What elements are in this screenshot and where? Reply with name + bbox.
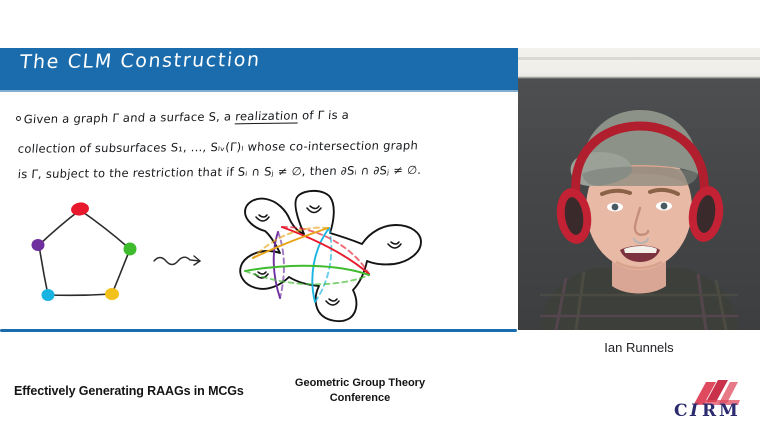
hollow-bullet-icon (16, 116, 21, 121)
svg-text:I: I (689, 401, 699, 420)
conference-title-line-2: Conference (250, 391, 470, 406)
graph-vertex-left (32, 239, 45, 251)
cirm-logo: C I R M (672, 378, 748, 420)
footer-bar: Effectively Generating RAAGs in MCGs Geo… (0, 370, 760, 427)
slide-body-line-1: Given a graph Γ and a surface S, a reali… (23, 108, 349, 127)
speaker-webcam-image (536, 90, 742, 330)
slide-panel: The CLM Construction Given a graph Γ and… (0, 0, 520, 336)
slide-body-emphasis-realization: realization (235, 108, 299, 123)
slide-body-line-3: is Γ, subject to the restriction that if… (17, 163, 422, 181)
talk-title: Effectively Generating RAAGs in MCGs (14, 384, 244, 398)
video-wall-edge (518, 57, 760, 60)
cirm-logo-text: C I R M (674, 401, 738, 420)
graph-vertex-bottom-right (105, 288, 119, 300)
pentagon-graph-figure (20, 193, 160, 315)
squiggly-arrow-icon (150, 245, 210, 275)
slide-body-line-2: collection of subsurfaces S₁, ..., Sₗᵥ(Γ… (17, 138, 418, 155)
slide-bottom-rule (0, 329, 517, 332)
conference-title: Geometric Group Theory Conference (250, 376, 470, 406)
slide-title: The CLM Construction (19, 49, 262, 74)
slide-body-line-1-post: of Γ is a (298, 108, 350, 123)
slide-body-line-1-pre: Given a graph Γ and a surface S, a (23, 109, 236, 126)
star-surface-figure (212, 188, 512, 324)
graph-vertex-right (124, 243, 137, 256)
svg-text:R: R (702, 401, 717, 420)
conference-title-line-1: Geometric Group Theory (250, 376, 470, 391)
speaker-video-panel[interactable] (518, 48, 760, 330)
graph-vertex-bottom-left (42, 289, 55, 301)
svg-text:C: C (674, 401, 688, 420)
speaker-name: Ian Runnels (518, 340, 760, 355)
svg-text:M: M (719, 401, 738, 420)
